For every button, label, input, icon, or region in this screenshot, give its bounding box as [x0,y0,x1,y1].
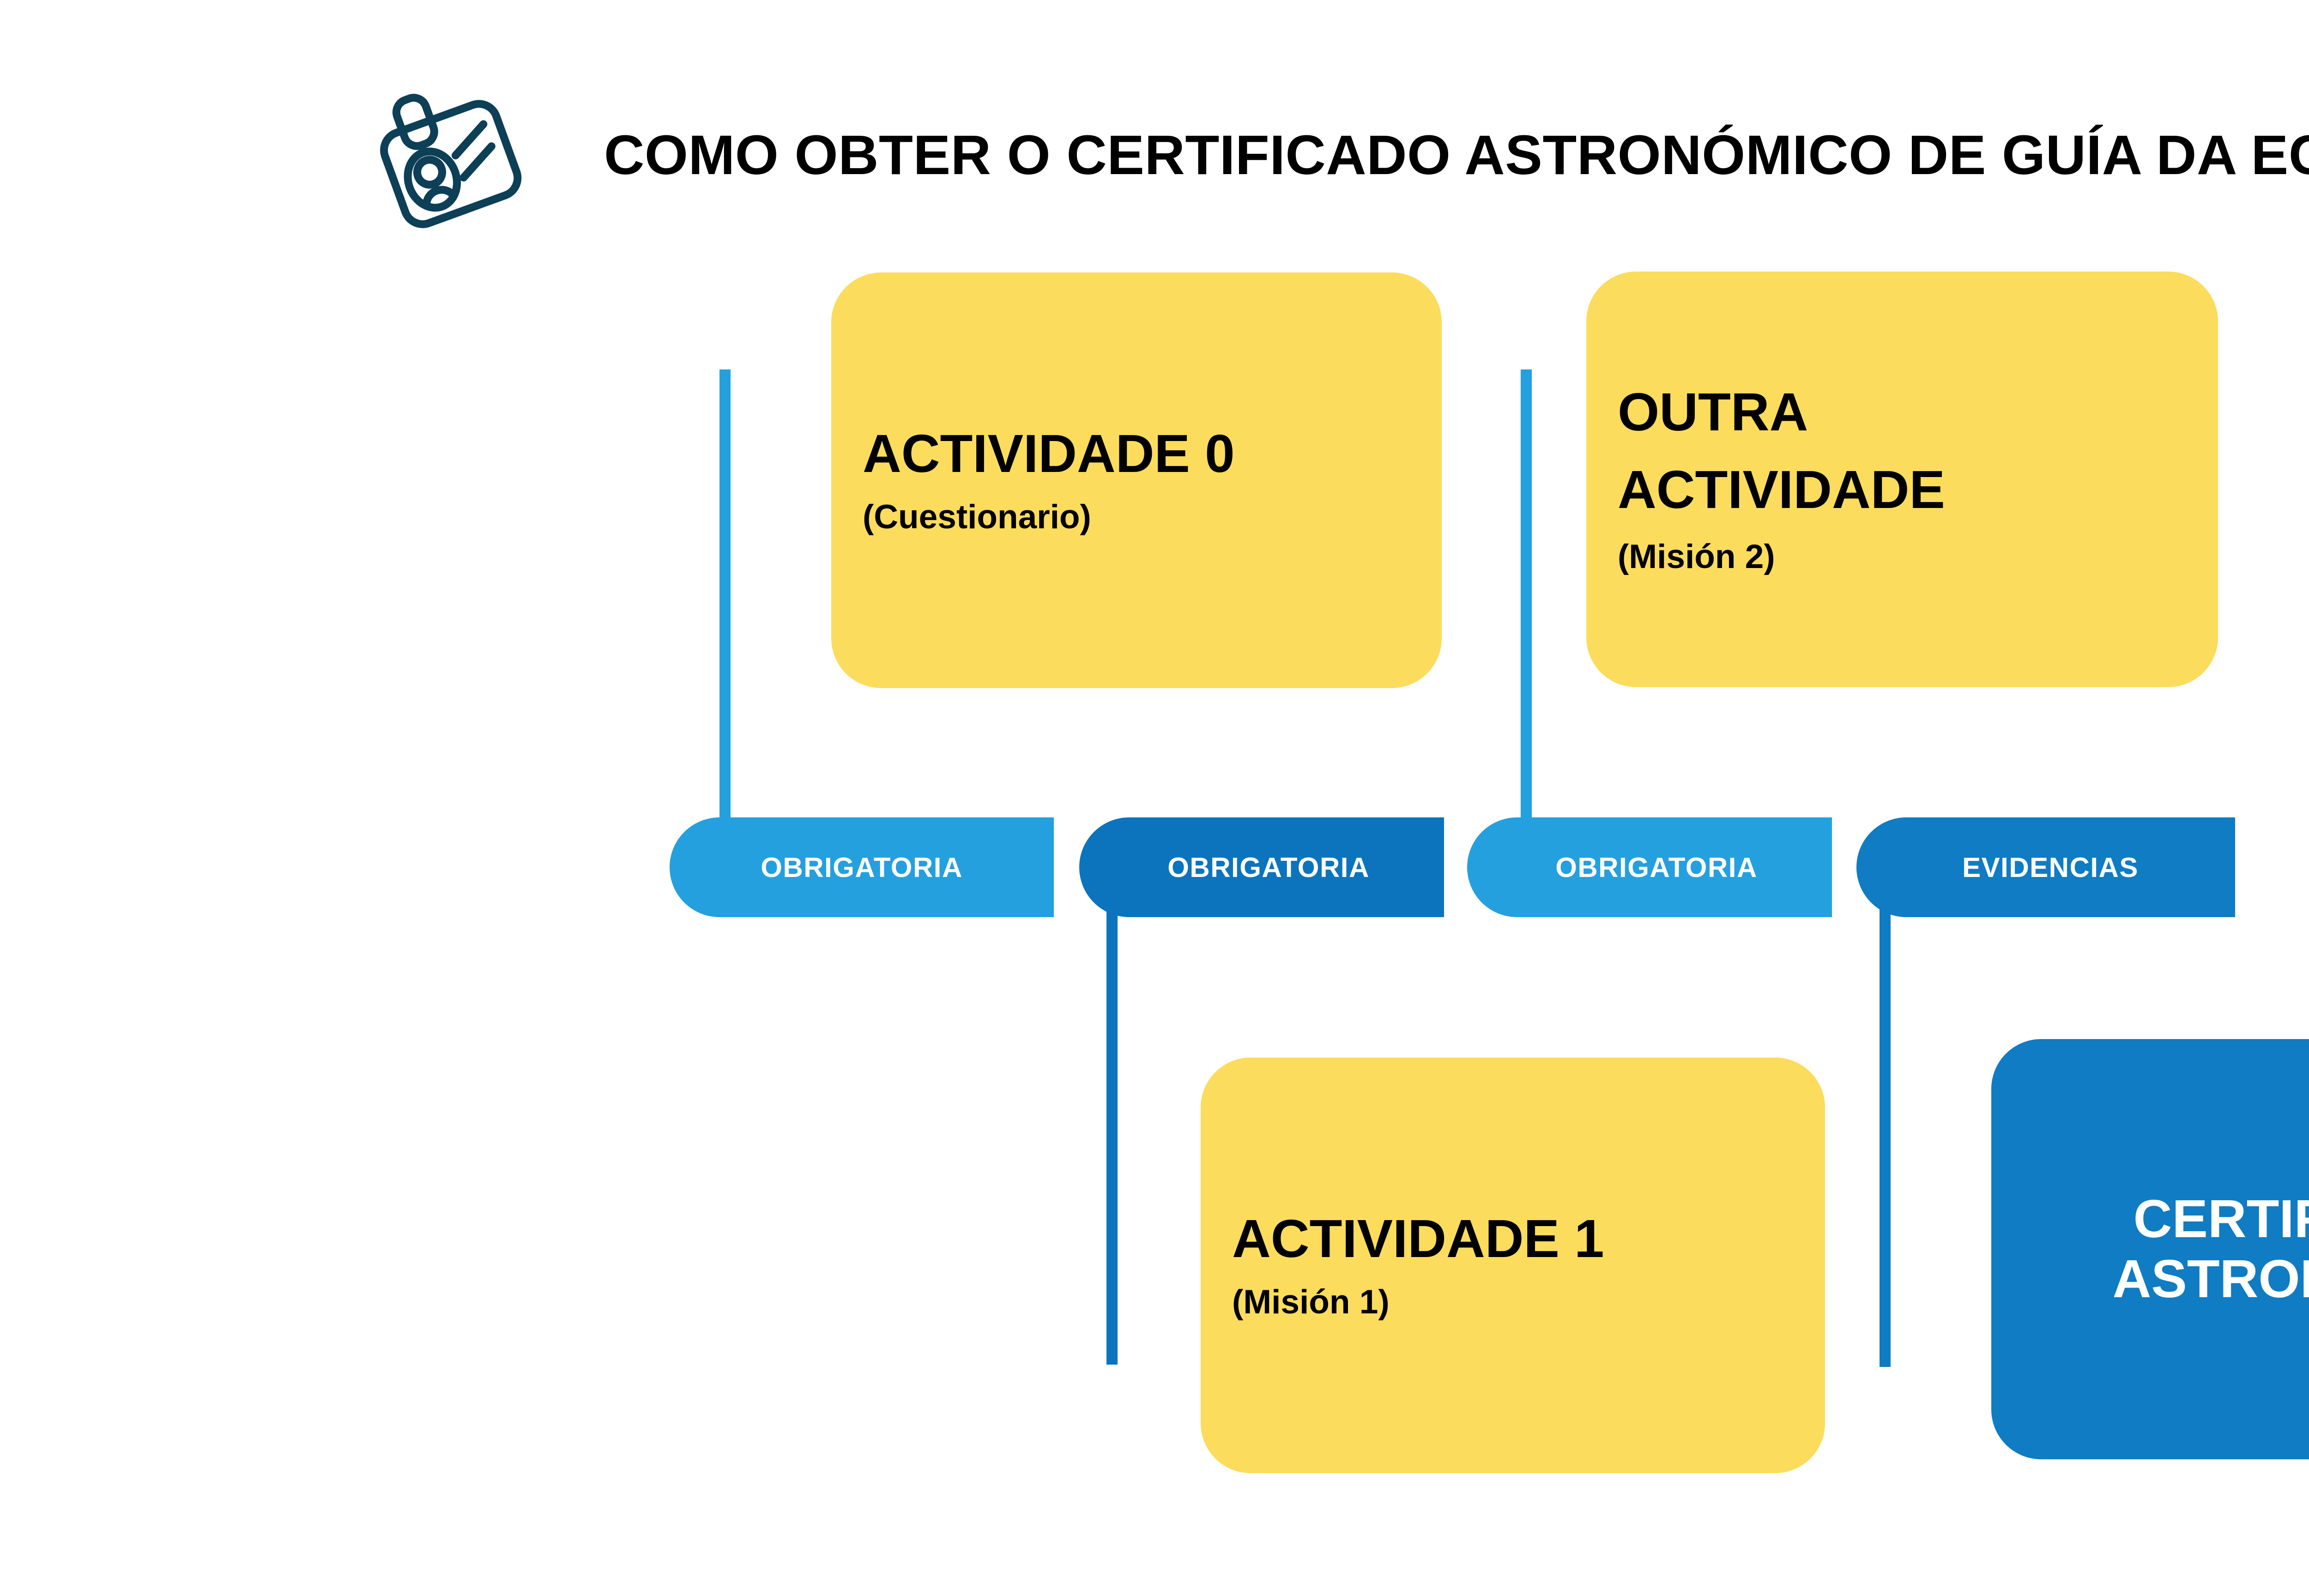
card-outra-actividade-subtitle: (Misión 2) [1618,538,2187,576]
card-actividade-1-subtitle: (Misión 1) [1232,1283,1794,1322]
card-actividade-0[interactable]: ACTIVIDADE 0 (Cuestionario) [831,272,1442,688]
card-actividade-1-title: ACTIVIDADE 1 [1232,1209,1794,1269]
card-outra-actividade[interactable]: OUTRA ACTIVIDADE (Misión 2) [1586,272,2218,687]
connector-outra-to-pill3 [1506,369,1526,871]
card-outra-actividade-title-line1: OUTRA [1618,382,2187,442]
pill-obrigatoria-2[interactable]: OBRIGATORIA [1079,817,1444,917]
card-certificado-astronomico[interactable]: CERTIFICADO ASTRONÓMICO [1991,1039,2309,1459]
card-outra-actividade-title-line2: ACTIVIDADE [1618,460,2187,520]
connector-actividade0-to-pill1 [706,369,725,871]
diagram-canvas: COMO OBTER O CERTIFICADO ASTRONÓMICO DE … [0,0,2309,1596]
pill-obrigatoria-1[interactable]: OBRIGATORIA [670,817,1054,917]
pill-obrigatoria-3[interactable]: OBRIGATORIA [1467,817,1832,917]
card-actividade-0-subtitle: (Cuestionario) [863,498,1410,537]
card-actividade-0-title: ACTIVIDADE 0 [863,424,1410,484]
connector-lines [0,0,2309,1596]
pill-evidencias[interactable]: EVIDENCIAS [1856,817,2235,917]
card-actividade-1[interactable]: ACTIVIDADE 1 (Misión 1) [1201,1058,1825,1473]
card-certificado-title-line2: ASTRONÓMICO [2113,1249,2309,1309]
card-certificado-title-line1: CERTIFICADO [2134,1189,2309,1249]
